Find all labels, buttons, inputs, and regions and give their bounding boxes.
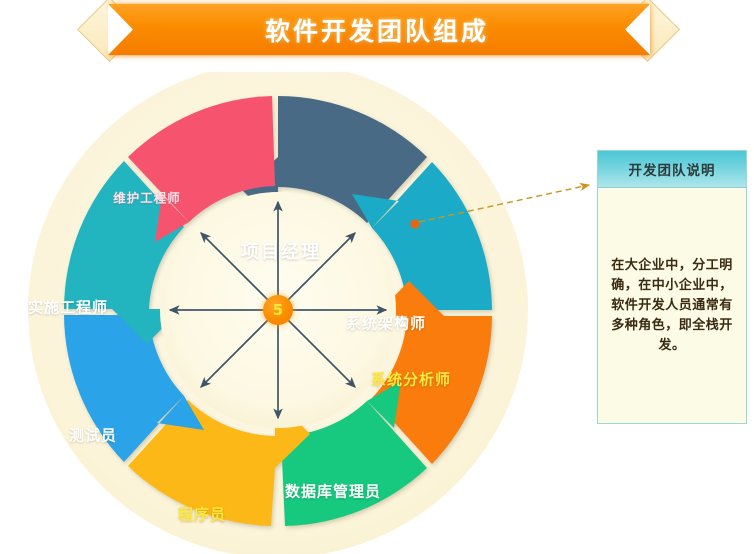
title-banner: 软件开发团队组成 — [0, 0, 754, 72]
banner-graphic — [0, 0, 754, 72]
callout-body: 在大企业中，分工明确，在中小企业中，软件开发人员通常有多种角色，即全栈开发。 — [598, 188, 746, 424]
callout-box: 开发团队说明 在大企业中，分工明确，在中小企业中，软件开发人员通常有多种角色，即… — [597, 150, 747, 424]
wheel-graphic — [0, 72, 600, 554]
banner-ribbon-shape — [133, 4, 650, 55]
team-wheel-diagram: 项目经理 系统架构师 系统分析师 数据库管理员 程序员 测试员 实施工程师 维护… — [0, 72, 600, 554]
center-count-badge: 5 — [263, 295, 293, 325]
callout-text: 在大企业中，分工明确，在中小企业中，软件开发人员通常有多种角色，即全栈开发。 — [607, 256, 737, 356]
callout-header: 开发团队说明 — [598, 151, 746, 188]
